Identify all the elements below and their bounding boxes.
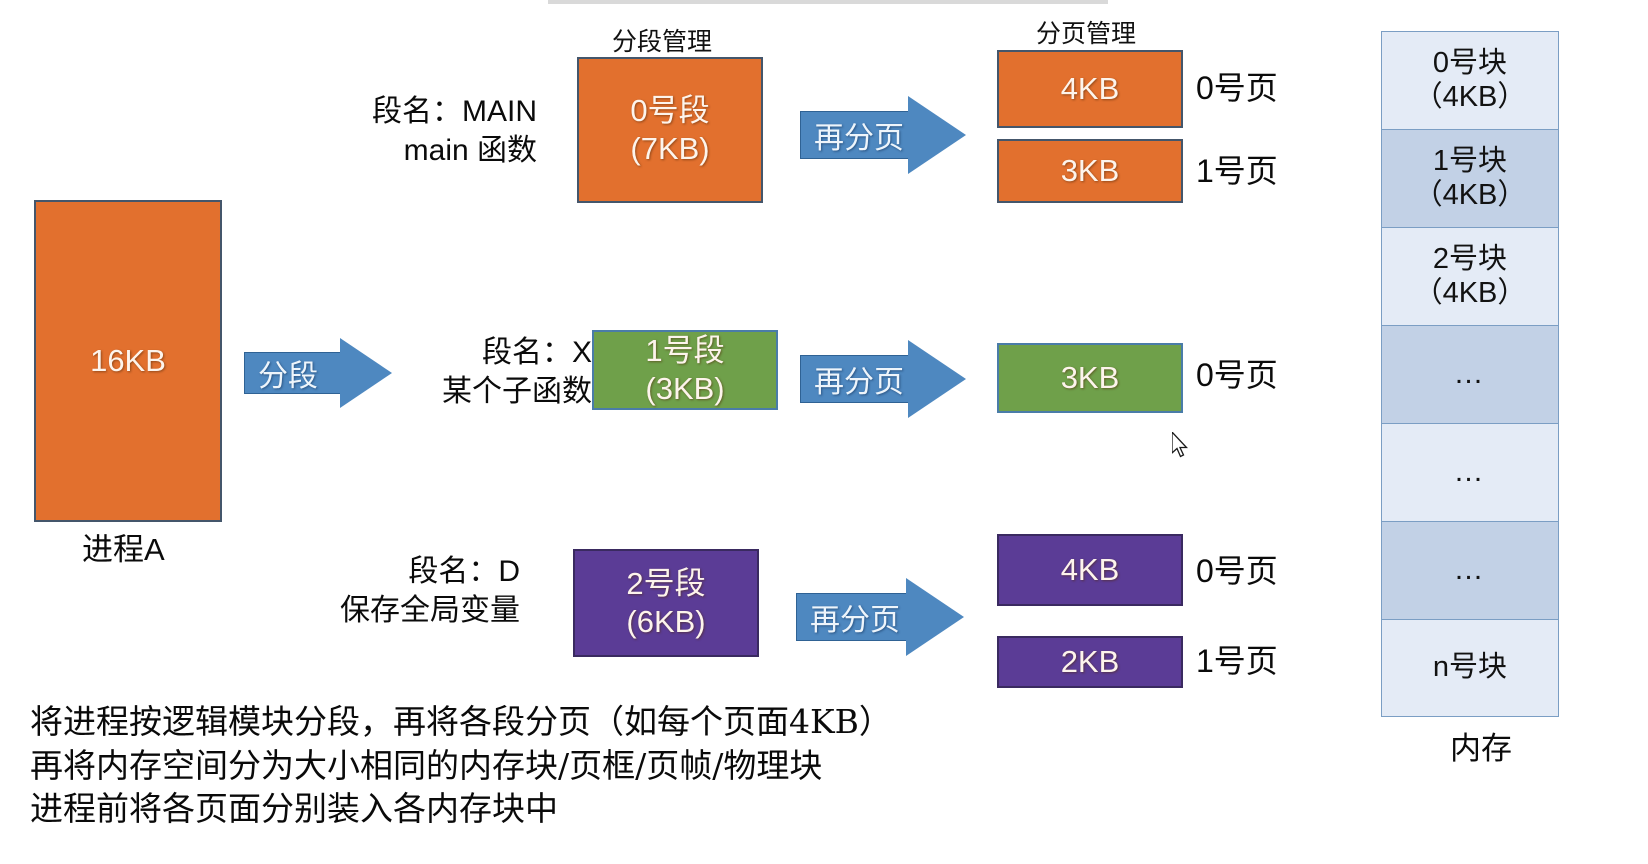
page-management-title: 分页管理 (1036, 14, 1136, 50)
segment-box-1: 1号段 (3KB) (592, 330, 778, 410)
memory-block-3: … (1381, 325, 1559, 423)
memory-block-5: … (1381, 521, 1559, 619)
explanatory-note-line-1: 将进程按逻辑模块分段，再将各段分页（如每个页面4KB） (30, 700, 892, 744)
segment-name-2-line2: 保存全局变量 (340, 591, 520, 630)
memory-block-1-line2: （4KB） (1414, 179, 1527, 212)
memory-column: 0号块 （4KB） 1号块 （4KB） 2号块 （4KB） … … … n号块 (1381, 31, 1559, 717)
segment-name-2-line1: 段名：D (340, 552, 520, 591)
page-label-0-0: 0号页 (1196, 68, 1278, 110)
segment-name-0-line1: 段名：MAIN (372, 92, 537, 131)
page-box-2-1: 2KB (997, 636, 1183, 688)
page-label-0-1: 1号页 (1196, 151, 1278, 193)
segment-name-0-line2: main 函数 (372, 131, 537, 170)
slide-top-strip (548, 0, 1108, 4)
page-box-1-0-size: 3KB (1061, 359, 1120, 397)
repaging-arrow-1: 再分页 (800, 340, 966, 418)
segment-management-title: 分段管理 (612, 22, 712, 58)
memory-block-1: 1号块 （4KB） (1381, 129, 1559, 227)
page-box-2-1-size: 2KB (1061, 643, 1120, 681)
segment-name-1-line2: 某个子函数 (442, 372, 592, 411)
page-label-2-0: 0号页 (1196, 551, 1278, 593)
explanatory-note-line-3: 进程前将各页面分别装入各内存块中 (30, 787, 892, 831)
memory-caption: 内存 (1450, 729, 1512, 769)
page-box-0-0: 4KB (997, 50, 1183, 128)
page-box-2-0: 4KB (997, 534, 1183, 606)
page-box-0-1: 3KB (997, 139, 1183, 203)
segment-box-0-number: 0号段 (630, 92, 709, 130)
repaging-arrow-1-label: 再分页 (800, 357, 904, 401)
memory-block-1-line1: 1号块 (1433, 145, 1507, 178)
segment-box-1-number: 1号段 (645, 332, 724, 370)
segment-box-1-size: (3KB) (645, 370, 724, 408)
memory-block-0-line2: （4KB） (1414, 81, 1527, 114)
process-a-caption: 进程A (82, 530, 165, 570)
memory-block-2-line1: 2号块 (1433, 243, 1507, 276)
process-a-size: 16KB (90, 342, 166, 380)
page-box-1-0: 3KB (997, 343, 1183, 413)
repaging-arrow-0: 再分页 (800, 96, 966, 174)
segment-box-0: 0号段 (7KB) (577, 57, 763, 203)
diagram-canvas: 分段管理 分页管理 16KB 进程A 分段 段名：MAIN main 函数 0号… (0, 0, 1648, 864)
memory-block-4-line1: … (1454, 455, 1487, 490)
segment-name-2: 段名：D 保存全局变量 (340, 552, 520, 630)
explanatory-note-line-2: 再将内存空间分为大小相同的内存块/页框/页帧/物理块 (30, 744, 892, 788)
memory-block-0-line1: 0号块 (1433, 47, 1507, 80)
memory-block-3-line1: … (1454, 357, 1487, 392)
segment-box-0-size: (7KB) (630, 130, 709, 168)
page-box-0-1-size: 3KB (1061, 152, 1120, 190)
mouse-cursor-icon (1172, 432, 1190, 460)
process-a-block: 16KB (34, 200, 222, 522)
repaging-arrow-0-label: 再分页 (800, 113, 904, 157)
repaging-arrow-2: 再分页 (796, 578, 966, 656)
repaging-arrow-2-label: 再分页 (796, 595, 900, 639)
segment-box-2-size: (6KB) (626, 603, 705, 641)
page-label-2-1: 1号页 (1196, 641, 1278, 683)
segment-box-2: 2号段 (6KB) (573, 549, 759, 657)
segment-name-1: 段名：X 某个子函数 (442, 333, 592, 411)
page-box-2-0-size: 4KB (1061, 551, 1120, 589)
segmentation-arrow-label: 分段 (244, 351, 318, 395)
page-box-0-0-size: 4KB (1061, 70, 1120, 108)
memory-block-5-line1: … (1454, 553, 1487, 588)
memory-block-2-line2: （4KB） (1414, 277, 1527, 310)
memory-block-2: 2号块 （4KB） (1381, 227, 1559, 325)
memory-block-4: … (1381, 423, 1559, 521)
memory-block-6-line1: n号块 (1433, 651, 1507, 684)
explanatory-note: 将进程按逻辑模块分段，再将各段分页（如每个页面4KB） 再将内存空间分为大小相同… (30, 700, 892, 831)
page-label-1-0: 0号页 (1196, 355, 1278, 397)
memory-block-6: n号块 (1381, 619, 1559, 717)
segment-name-1-line1: 段名：X (442, 333, 592, 372)
segment-name-0: 段名：MAIN main 函数 (372, 92, 537, 170)
segmentation-arrow: 分段 (244, 338, 392, 408)
memory-block-0: 0号块 （4KB） (1381, 31, 1559, 129)
segment-box-2-number: 2号段 (626, 565, 705, 603)
